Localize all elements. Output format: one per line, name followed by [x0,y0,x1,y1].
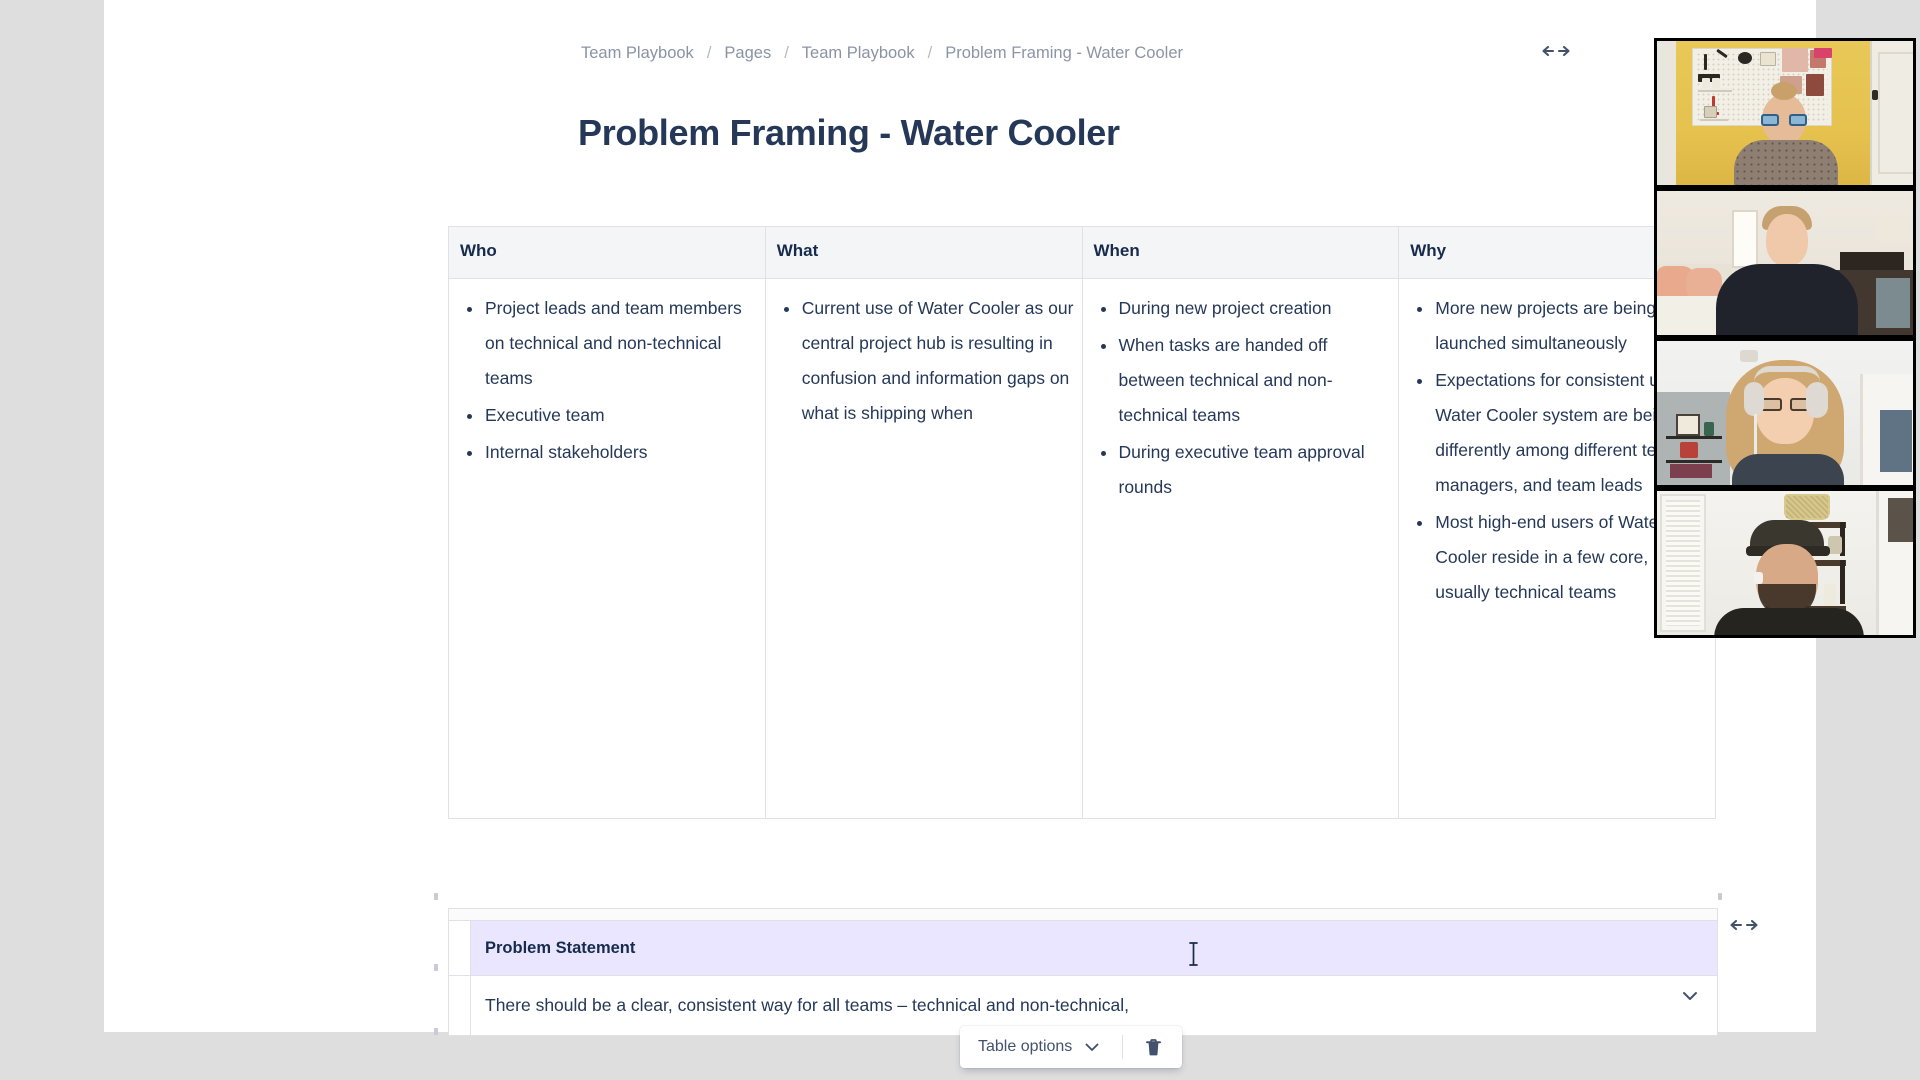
video-feed [1654,488,1916,638]
video-tile-participant-3[interactable] [1654,338,1916,488]
header-label: What [777,241,819,260]
table-options-toolbar: Table options [960,1026,1182,1068]
header-label: When [1094,241,1140,260]
table-top-strip[interactable] [448,908,1718,920]
table-header-when[interactable]: When [1082,227,1399,279]
table-row: Project leads and team members on techni… [449,279,1716,819]
resize-horizontal-icon[interactable] [1541,44,1571,58]
page-title: Problem Framing - Water Cooler [578,112,1120,154]
table-header-who[interactable]: Who [449,227,766,279]
resize-horizontal-icon[interactable] [1729,918,1759,932]
table-head: Who What When Why [449,227,1716,279]
breadcrumb: Team Playbook / Pages / Team Playbook / … [579,44,1185,63]
problem-statement-header-cell[interactable]: Problem Statement [471,921,1718,976]
table-options-button[interactable]: Table options [966,1031,1115,1063]
breadcrumb-separator: / [696,44,723,63]
resize-horizontal-glyph [1541,44,1571,58]
screen-root: Team Playbook / Pages / Team Playbook / … [0,0,1920,1080]
text-cursor-icon [1187,941,1200,967]
video-tile-participant-2[interactable] [1654,188,1916,338]
table-header-what[interactable]: What [765,227,1082,279]
table-body: Project leads and team members on techni… [449,279,1716,819]
breadcrumb-item-1[interactable]: Team Playbook [579,44,696,63]
bullet-list: During new project creation When tasks a… [1091,291,1391,505]
chevron-down-icon[interactable] [1682,988,1698,1005]
four-column-table: Who What When Why [448,226,1716,819]
problem-statement-label: Problem Statement [485,939,635,957]
column-handle[interactable] [434,893,438,900]
table-options-label: Table options [978,1038,1072,1056]
row-selector-cell[interactable] [449,976,471,1036]
breadcrumb-separator: / [773,44,800,63]
page-background-left [0,0,104,1080]
video-tile-participant-4[interactable] [1654,488,1916,638]
video-feed [1654,38,1916,188]
header-label: Who [460,241,497,260]
column-handle[interactable] [1718,893,1722,900]
row-selector-cell[interactable] [449,921,471,976]
list-item: During new project creation [1091,291,1391,326]
resize-horizontal-glyph [1729,918,1759,932]
problem-statement-text: There should be a clear, consistent way … [485,995,1129,1015]
table-cell-what[interactable]: Current use of Water Cooler as our centr… [765,279,1082,819]
list-item: Current use of Water Cooler as our centr… [774,291,1074,431]
breadcrumb-item-3[interactable]: Team Playbook [800,44,917,63]
list-item: When tasks are handed off between techni… [1091,328,1391,433]
list-item: Executive team [457,398,757,433]
table-cell-who[interactable]: Project leads and team members on techni… [449,279,766,819]
table-row: Problem Statement [449,921,1718,976]
list-item: Internal stakeholders [457,435,757,470]
breadcrumb-item-2[interactable]: Pages [722,44,773,63]
problem-statement-table: Problem Statement There should be a clea… [448,920,1718,1036]
video-feed [1654,188,1916,338]
list-item: Project leads and team members on techni… [457,291,757,396]
trash-icon [1142,1036,1164,1058]
video-participant-rail [1654,38,1916,638]
bullet-list: Current use of Water Cooler as our centr… [774,291,1074,431]
bullet-list: Project leads and team members on techni… [457,291,757,470]
delete-table-button[interactable] [1130,1031,1176,1063]
list-item: During executive team approval rounds [1091,435,1391,505]
header-label: Why [1410,241,1446,260]
chevron-down-icon [1081,1036,1103,1058]
video-tile-participant-1[interactable] [1654,38,1916,188]
breadcrumb-separator: / [917,44,944,63]
row-handle[interactable] [434,964,438,971]
video-feed [1654,338,1916,488]
row-handle[interactable] [434,1028,438,1035]
table-body: Problem Statement There should be a clea… [449,921,1718,1036]
table-cell-when[interactable]: During new project creation When tasks a… [1082,279,1399,819]
toolbar-divider [1122,1035,1123,1059]
breadcrumb-item-current[interactable]: Problem Framing - Water Cooler [943,44,1185,63]
document-canvas: Team Playbook / Pages / Team Playbook / … [104,0,1816,1032]
table-header-row: Who What When Why [449,227,1716,279]
